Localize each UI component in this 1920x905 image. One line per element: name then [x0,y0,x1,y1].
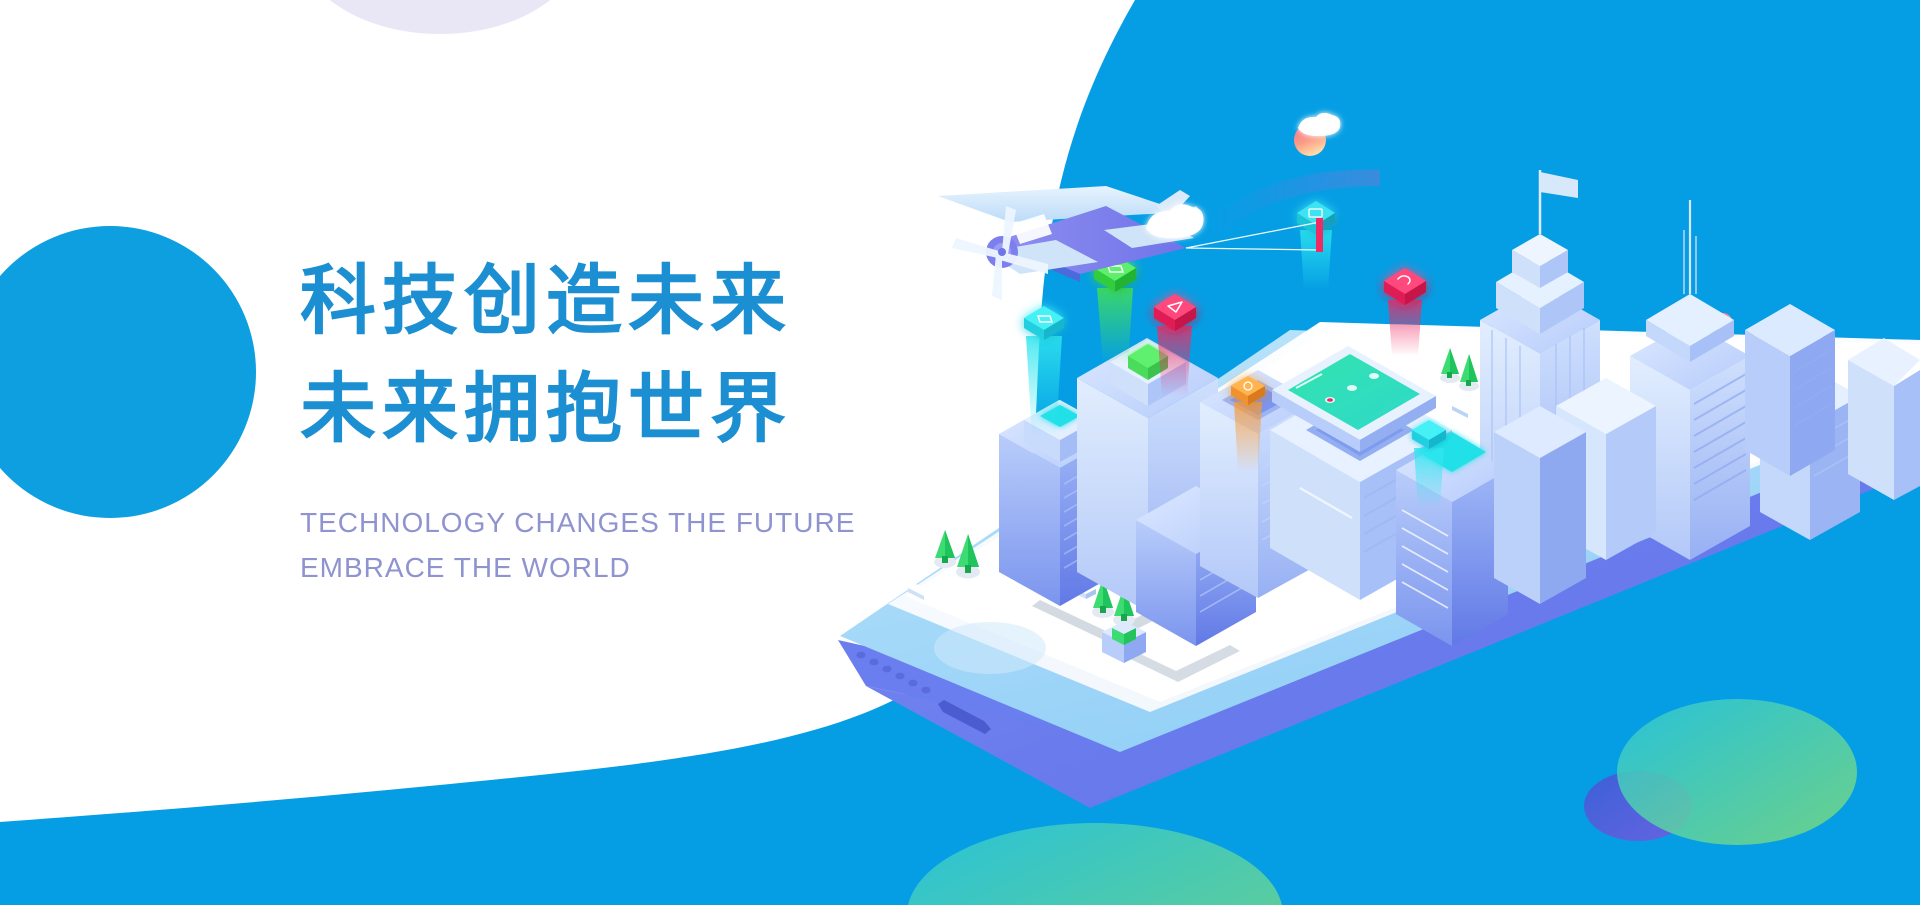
sky-sphere-large [1294,124,1326,156]
page-title: 科技创造未来 未来拥抱世界 [300,248,940,464]
subtitle-line-2: EMBRACE THE WORLD [300,545,940,590]
sky-sphere-small [1714,313,1732,331]
hero-subtitle: TECHNOLOGY CHANGES THE FUTURE EMBRACE TH… [300,500,940,591]
hero-text-block: 科技创造未来 未来拥抱世界 TECHNOLOGY CHANGES THE FUT… [300,248,940,591]
subtitle-line-1: TECHNOLOGY CHANGES THE FUTURE [300,500,940,545]
hero-banner: 科技创造未来 未来拥抱世界 TECHNOLOGY CHANGES THE FUT… [0,0,1920,905]
right-teal-blob [1617,699,1857,845]
background-shapes [0,0,1920,905]
headline-line-1: 科技创造未来 [300,248,940,356]
headline-line-2: 未来拥抱世界 [300,356,940,464]
